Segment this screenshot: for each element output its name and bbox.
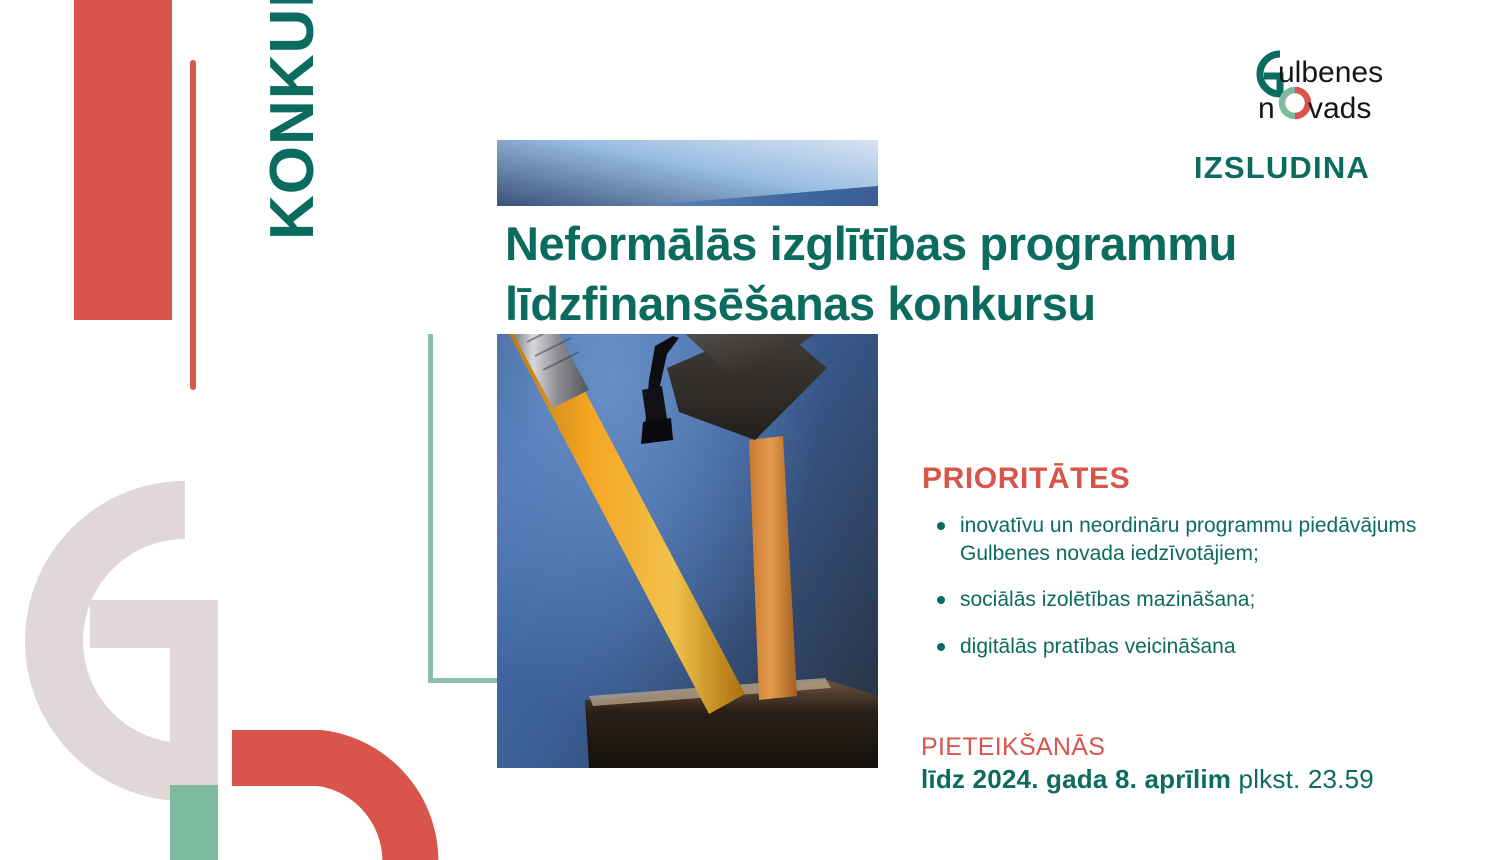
gulbenes-novads-logo: ulbenes n vads [1238, 42, 1408, 130]
gulbenes-g-watermark [0, 440, 460, 860]
list-item: inovatīvu un neordināru programmu piedāv… [928, 512, 1488, 567]
konkurss-label: KONKURSS [257, 0, 328, 240]
svg-text:ulbenes: ulbenes [1278, 56, 1383, 89]
headline-line-1: Neformālās izglītības programmu [505, 214, 1425, 274]
deadline-date: līdz 2024. gada 8. aprīlim [921, 764, 1231, 794]
konkurss-vertical-title: KONKURSS [232, 0, 352, 240]
headline-line-2: līdzfinansēšanas konkursu [505, 274, 1425, 334]
poster-canvas: KONKURSS Te rodas! [0, 0, 1500, 860]
announce-label: IZSLUDINA [1194, 150, 1370, 186]
list-item: digitālās pratības veicināšana [928, 633, 1488, 661]
svg-text:vads: vads [1308, 92, 1371, 125]
red-block-decoration [74, 0, 172, 320]
list-item: sociālās izolētības mazināšana; [928, 586, 1488, 614]
red-line-decoration [190, 60, 196, 390]
priorities-list: inovatīvu un neordināru programmu piedāv… [928, 512, 1488, 680]
priorities-heading: PRIORITĀTES [922, 462, 1130, 496]
page-title: Neformālās izglītības programmu līdzfina… [505, 214, 1425, 334]
deadline-time: plkst. 23.59 [1231, 764, 1374, 794]
application-deadline: līdz 2024. gada 8. aprīlim plkst. 23.59 [921, 764, 1374, 795]
application-label: PIETEIKŠANĀS [921, 733, 1105, 762]
svg-text:n: n [1258, 92, 1275, 125]
